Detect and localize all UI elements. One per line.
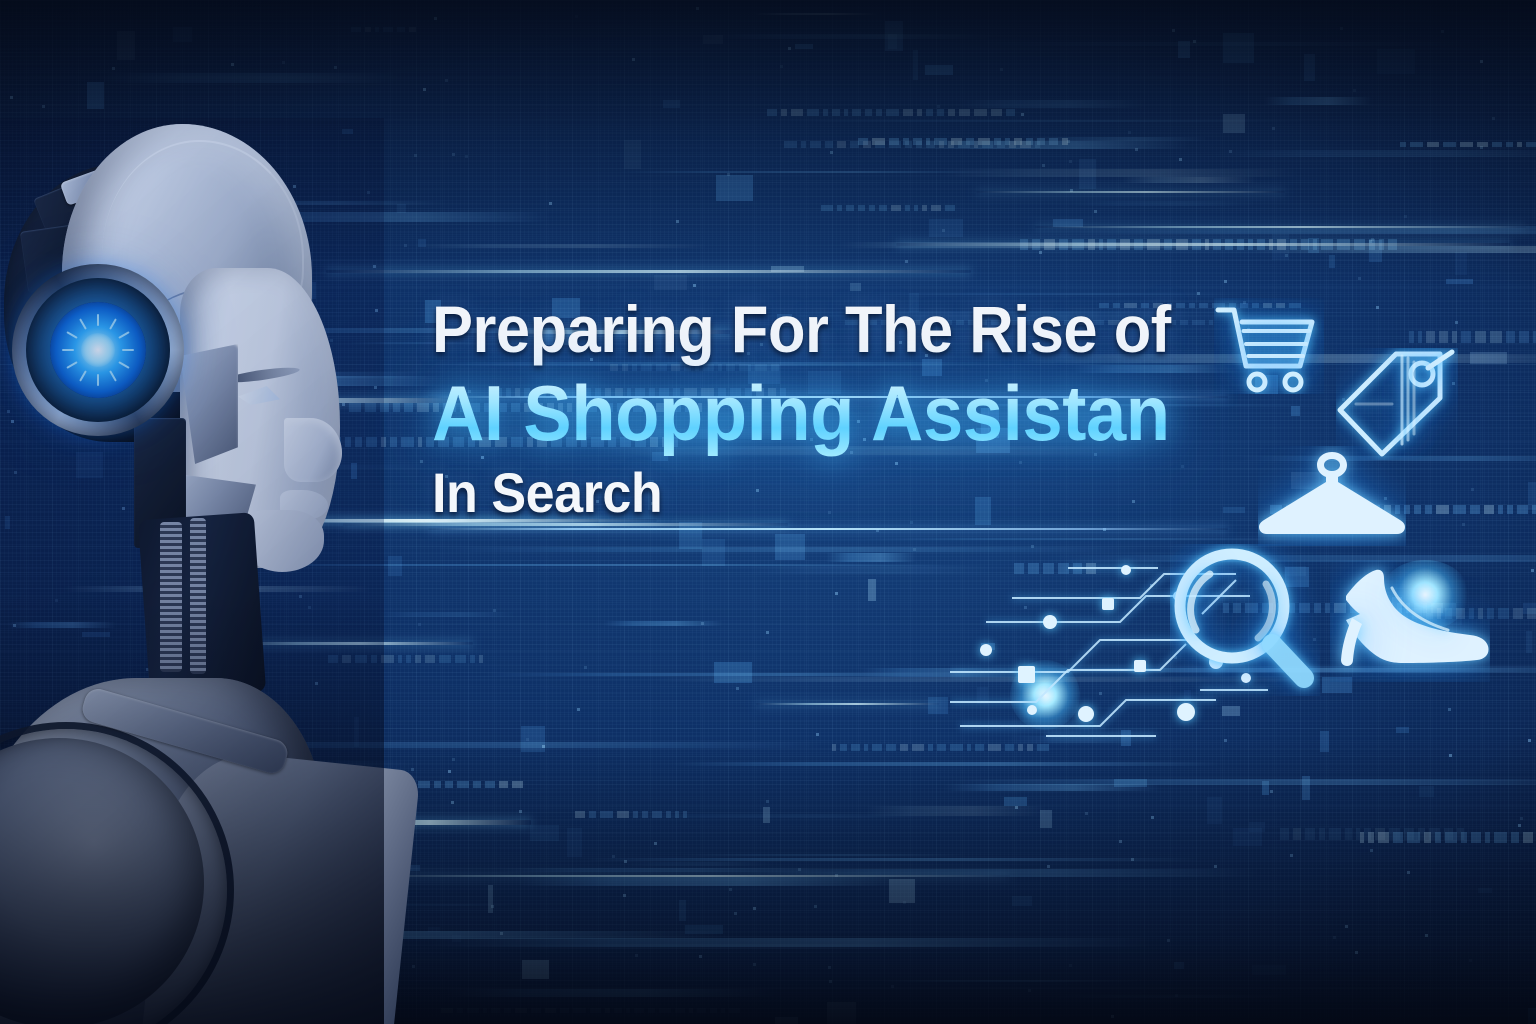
ear-core-ray xyxy=(122,349,134,351)
ear-core-ray xyxy=(118,331,129,339)
ear-core-ray xyxy=(109,318,117,329)
ear-core-ray xyxy=(66,361,77,369)
magnifying-glass-icon xyxy=(1170,544,1320,696)
ear-core-ray xyxy=(79,318,87,329)
ear-core-ray xyxy=(118,361,129,369)
robot-neck-cable xyxy=(190,518,206,674)
high-heel-shoe-icon xyxy=(1330,560,1490,682)
title-divider-bottom xyxy=(428,528,1228,530)
headline-line-2: AI Shopping Assistants xyxy=(432,366,1167,460)
robot-figure xyxy=(0,118,384,1024)
ear-core-ray xyxy=(97,374,99,386)
headline-line-1: Preparing For The Rise of xyxy=(432,292,1167,366)
ear-core-ray xyxy=(97,314,99,326)
robot-ear-core-glow xyxy=(50,302,146,398)
banner-canvas: Preparing For The Rise of AI Shopping As… xyxy=(0,0,1536,1024)
ear-core-ray xyxy=(66,331,77,339)
clothes-hanger-icon xyxy=(1258,446,1406,546)
headline-line-3: In Search xyxy=(432,460,1167,526)
price-tag-icon xyxy=(1336,348,1458,460)
ear-core-ray xyxy=(109,370,117,381)
shopping-cart-icon xyxy=(1214,298,1324,394)
robot-neck-cable xyxy=(160,522,182,672)
ear-core-ray xyxy=(62,349,74,351)
headline-block: Preparing For The Rise of AI Shopping As… xyxy=(432,292,1222,526)
ear-core-ray xyxy=(79,370,87,381)
